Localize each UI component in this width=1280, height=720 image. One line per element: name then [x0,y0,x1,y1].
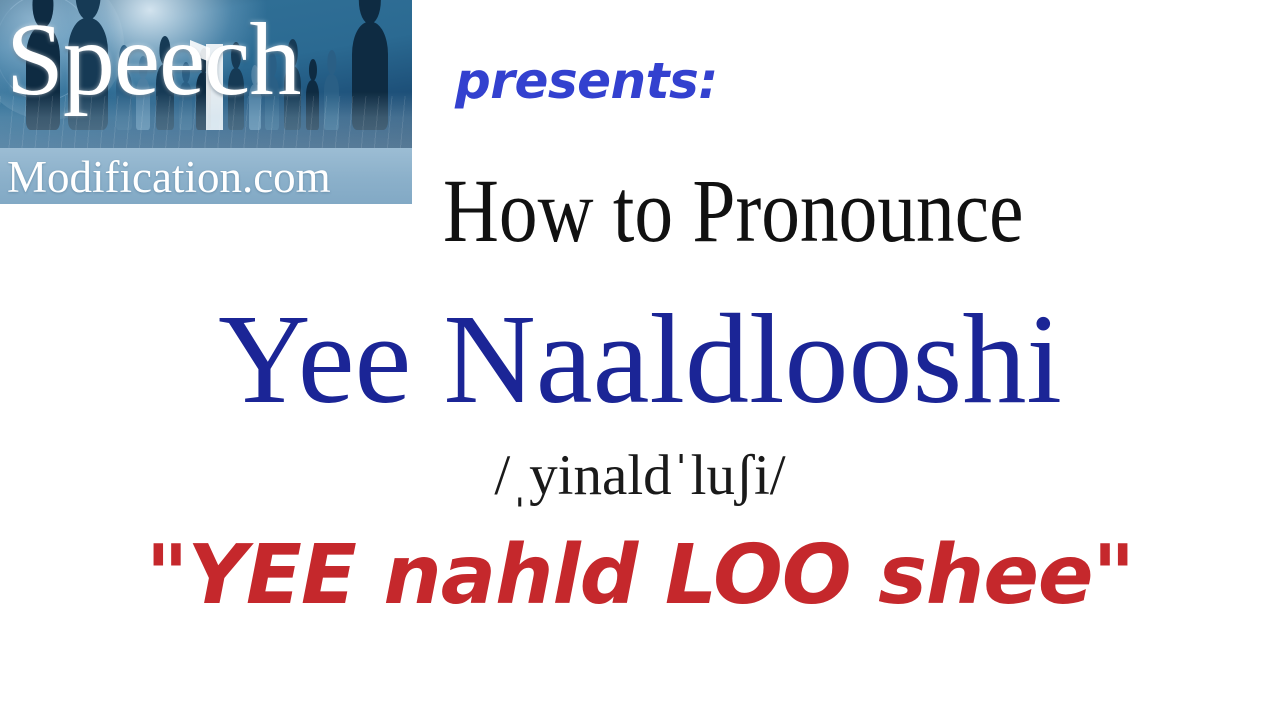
logo-upper-band: Speech [0,0,412,148]
page-title: How to Pronounce [443,158,1023,266]
logo-domain-text: Modification.com [7,150,412,204]
speech-modification-logo[interactable]: Speech Modification.com [0,0,412,204]
logo-wordmark: Speech [6,8,406,112]
phonetic-respelling: "YEE nahld LOO shee" [0,524,1280,628]
target-word: Yee Naaldlooshi [0,288,1280,430]
pronunciation-title-slide: Speech Modification.com presents: How to… [0,0,1280,720]
ipa-transcription: /ˌyinaldˈluʃi/ [0,441,1280,511]
presents-label: presents: [455,52,718,110]
